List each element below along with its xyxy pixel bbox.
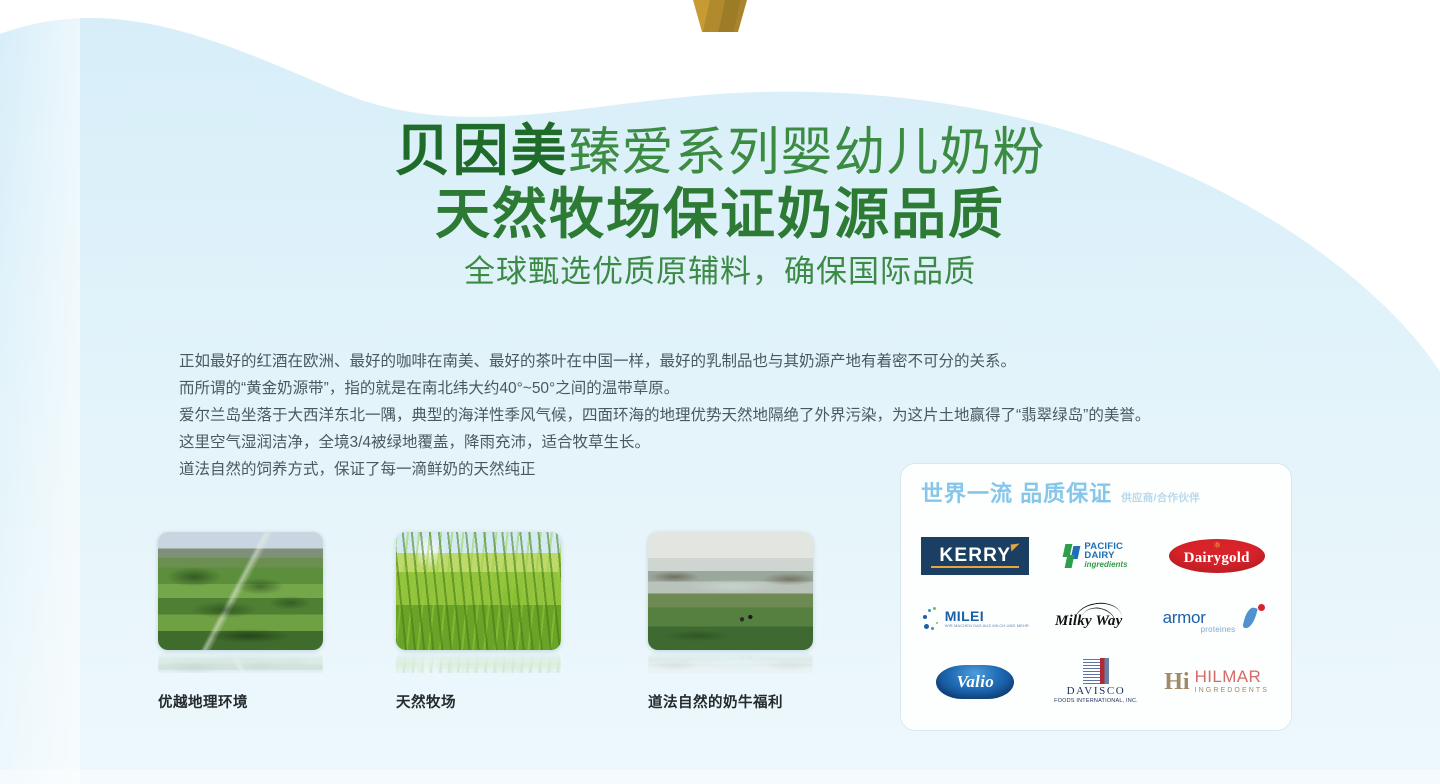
partner-logo-kerry[interactable]: KERRY [916, 526, 1034, 586]
brand-name: 贝因美 [394, 119, 568, 182]
headline-subtitle: 天然牧场保证奶源品质 [0, 182, 1440, 246]
body-copy: 正如最好的红酒在欧洲、最好的咖啡在南美、最好的茶叶在中国一样，最好的乳制品也与其… [148, 348, 1328, 483]
headline-tagline: 全球甄选优质原辅料，确保国际品质 [0, 250, 1440, 294]
pacific-chevron-icon [1064, 544, 1081, 568]
armor-dot-icon [1258, 604, 1265, 611]
partner-logo-dairygold[interactable]: ⚛ Dairygold [1158, 526, 1276, 586]
top-banner-photo-fragment [636, 0, 804, 32]
product-series: 臻爱系列婴幼儿奶粉 [568, 124, 1045, 182]
partner-logo-valio[interactable]: Valio [916, 652, 1034, 712]
hilmar-monogram-icon: Hi [1164, 670, 1189, 694]
photo-art [396, 532, 561, 650]
milkyway-wordmark: Milky Way [1055, 613, 1123, 630]
kerry-swoosh-icon [1011, 543, 1021, 551]
partner-logo-milky-way[interactable]: Milky Way [1037, 589, 1155, 649]
photo-thumbnail-cow-welfare[interactable] [648, 532, 813, 650]
photo-card[interactable]: 道法自然的奶牛福利 [648, 532, 813, 712]
partner-logo-davisco[interactable]: DAVISCO FOODS INTERNATIONAL, INC. [1037, 652, 1155, 712]
photo-card[interactable]: 优越地理环境 [158, 532, 323, 712]
headline-block: 贝因美臻爱系列婴幼儿奶粉 天然牧场保证奶源品质 全球甄选优质原辅料，确保国际品质 [0, 120, 1440, 294]
pod-image [645, 0, 795, 32]
body-paragraph-1: 正如最好的红酒在欧洲、最好的咖啡在南美、最好的茶叶在中国一样，最好的乳制品也与其… [148, 348, 1328, 375]
partner-logo-milei[interactable]: MILEI WIR MACHEN DAS AUS MILCH UND MEHR [916, 589, 1034, 649]
dairygold-wordmark: Dairygold [1184, 550, 1250, 567]
armor-subtext: proteines [1201, 625, 1236, 634]
armor-swish-icon [1242, 606, 1258, 630]
hilmar-subtext: INGREDOENTS [1195, 686, 1269, 695]
partners-panel: 世界一流 品质保证 供应商/合作伙伴 KERRY PACIFIC DAIRY i… [901, 464, 1291, 730]
partner-logo-pacific-dairy[interactable]: PACIFIC DAIRY ingredients [1037, 526, 1155, 586]
photo-caption: 道法自然的奶牛福利 [648, 691, 813, 712]
pacific-line3: ingredients [1084, 560, 1127, 569]
photo-thumbnail-pasture[interactable] [396, 532, 561, 650]
partners-header: 世界一流 品质保证 供应商/合作伙伴 [921, 476, 1200, 508]
milei-wordmark: MILEI [945, 609, 1029, 623]
dairygold-crown-icon: ⚛ [1213, 541, 1220, 550]
milei-bubbles-icon [922, 606, 942, 632]
headline-main: 贝因美臻爱系列婴幼儿奶粉 [0, 120, 1440, 184]
kerry-underline [931, 566, 1019, 568]
milei-tagline: WIR MACHEN DAS AUS MILCH UND MEHR [945, 623, 1029, 628]
davisco-subtext: FOODS INTERNATIONAL, INC. [1054, 698, 1138, 705]
davisco-wordmark: DAVISCO [1067, 685, 1126, 697]
partner-logo-grid: KERRY PACIFIC DAIRY ingredients ⚛ [915, 524, 1277, 713]
body-paragraph-3: 爱尔兰岛坐落于大西洋东北一隅，典型的海洋性季风气候，四面环海的地理优势天然地隔绝… [148, 402, 1328, 429]
photo-reflection [396, 651, 561, 673]
partner-logo-hilmar[interactable]: Hi HILMAR INGREDOENTS [1158, 652, 1276, 712]
partners-subtitle: 供应商/合作伙伴 [1121, 490, 1200, 505]
body-paragraph-4: 这里空气湿润洁净，全境3/4被绿地覆盖，降雨充沛，适合牧草生长。 [148, 429, 1328, 456]
hilmar-wordmark: HILMAR [1195, 668, 1269, 686]
photo-reflection [648, 651, 813, 673]
pacific-line2: DAIRY [1084, 551, 1127, 560]
valio-wordmark: Valio [957, 672, 994, 692]
photo-reflection [158, 651, 323, 673]
davisco-globe-icon [1083, 658, 1109, 684]
photo-art [158, 532, 323, 650]
photo-caption: 优越地理环境 [158, 691, 323, 712]
armor-wordmark: armor [1163, 608, 1206, 628]
photo-row: 优越地理环境 天然牧场 道法自然的奶牛福利 [148, 532, 868, 732]
kerry-wordmark: KERRY [939, 546, 1011, 565]
partners-title: 世界一流 品质保证 [921, 476, 1112, 508]
photo-caption: 天然牧场 [396, 691, 561, 712]
photo-card[interactable]: 天然牧场 [396, 532, 561, 712]
photo-thumbnail-geography[interactable] [158, 532, 323, 650]
body-paragraph-2: 而所谓的“黄金奶源带”，指的就是在南北纬大约40°~50°之间的温带草原。 [148, 375, 1328, 402]
photo-art [648, 532, 813, 650]
partner-logo-armor-proteines[interactable]: armor proteines [1158, 589, 1276, 649]
